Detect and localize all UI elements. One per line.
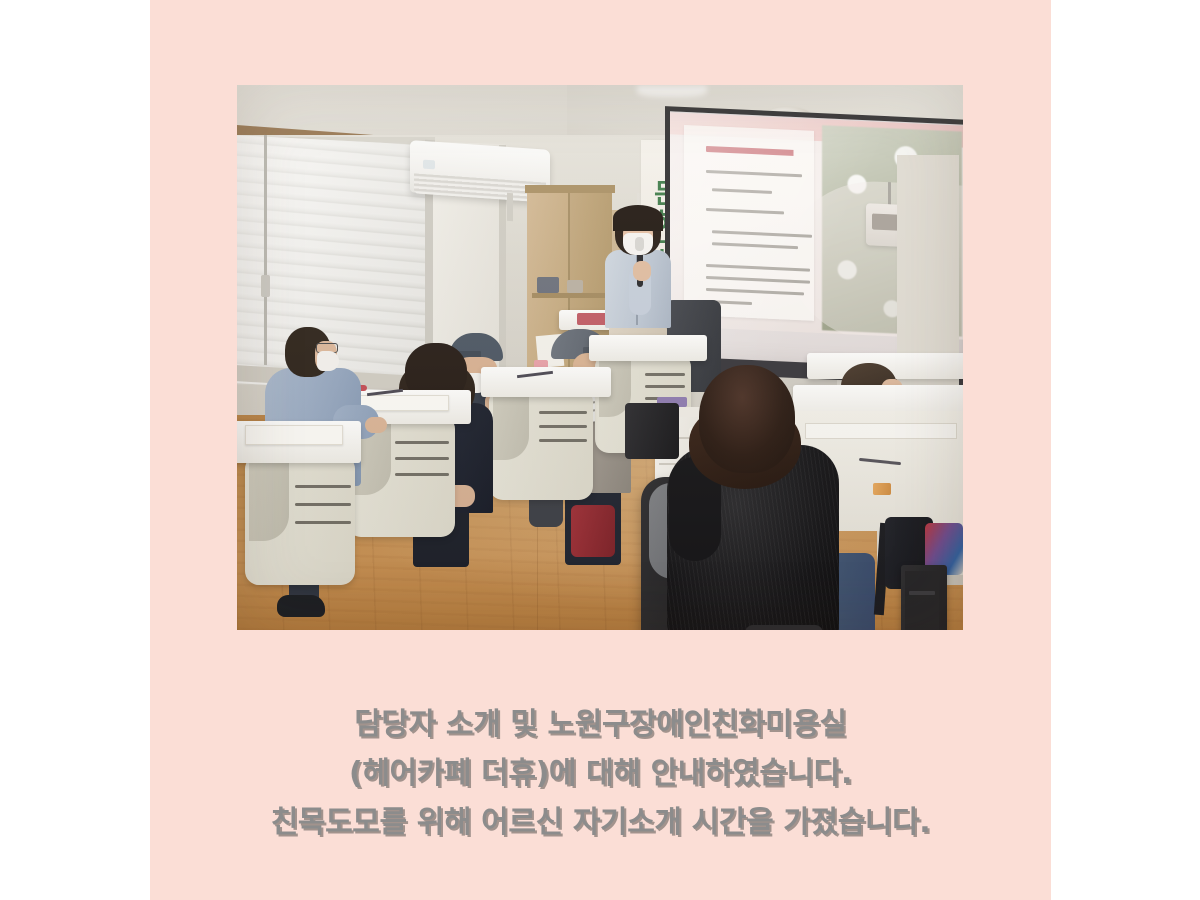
participant-hand	[365, 417, 387, 433]
desk-side-notch	[493, 388, 529, 460]
caption-line-3: 친목도모를 위해 어르신 자기소개 시간을 가졌습니다.	[150, 798, 1051, 847]
desk-slot	[295, 485, 351, 488]
shelf-item-small	[567, 280, 583, 293]
desk-top	[589, 335, 707, 361]
slide-card: 문해교실	[0, 0, 1200, 900]
desk-slot	[645, 373, 685, 376]
participant-shoe	[277, 595, 325, 617]
microphone-head-icon	[635, 237, 644, 251]
ceiling-light-glare	[637, 85, 707, 97]
desk-slot	[395, 457, 449, 460]
caption-line-2: (헤어카페 더휴)에 대해 안내하였습니다.	[150, 749, 1051, 798]
desk-slot	[295, 521, 351, 524]
pc-front-panel	[905, 571, 939, 630]
air-conditioner-display	[423, 160, 435, 170]
cabinet-shelf	[532, 293, 610, 298]
participant-face-mask	[317, 351, 339, 371]
air-conditioner-pipe	[507, 193, 513, 221]
desk-slot	[645, 385, 685, 388]
desk-slot	[539, 425, 587, 428]
desk-slot	[539, 411, 587, 414]
desk-slot	[395, 473, 449, 476]
classroom-photo: 문해교실	[237, 85, 963, 630]
blind-cord-clip	[261, 275, 270, 297]
pc-drive-slot	[909, 591, 935, 595]
foreground-participant-hair	[699, 365, 795, 473]
desk-slot	[395, 441, 449, 444]
desk-slot	[295, 503, 351, 506]
caption-line-1: 담당자 소개 및 노원구장애인친화미용실	[150, 700, 1051, 749]
shelf-item-box	[537, 277, 559, 293]
office-chair-armrest	[745, 625, 823, 630]
presenter-hand	[633, 261, 651, 281]
caption-block: 담당자 소개 및 노원구장애인친화미용실 (헤어카페 더휴)에 대해 안내하였습…	[150, 700, 1051, 847]
participant-bag	[571, 505, 615, 557]
desk-small-object	[873, 483, 891, 495]
desk-slot	[539, 439, 587, 442]
desk-side-notch	[249, 455, 289, 541]
presenter-hair-front	[613, 205, 663, 231]
black-equipment-case	[625, 403, 679, 459]
blind-cord	[264, 135, 267, 365]
wood-cabinet-top	[525, 185, 615, 193]
desk-paper	[245, 425, 343, 445]
desk-inset	[805, 423, 957, 439]
